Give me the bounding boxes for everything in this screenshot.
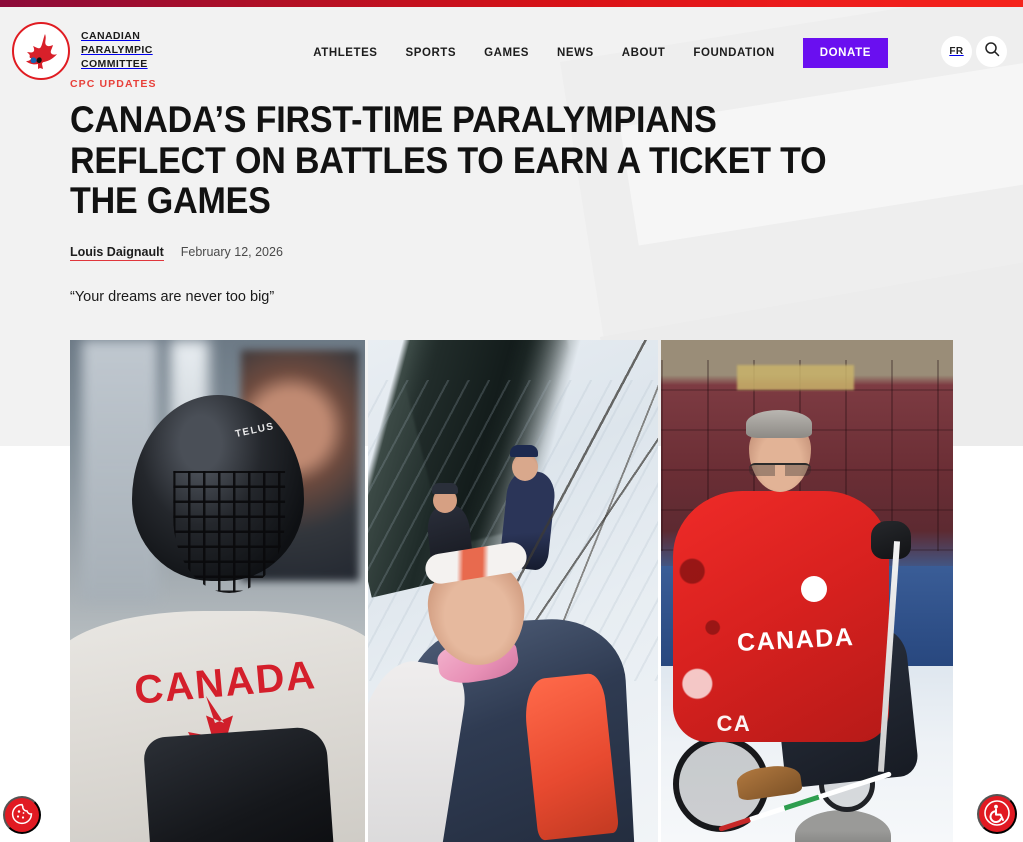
- language-label: FR: [949, 46, 963, 57]
- jacket-canada-wordmark-partial: CA: [716, 711, 751, 737]
- jacket-cpc-crest: [801, 576, 827, 602]
- language-switch-fr[interactable]: FR: [941, 36, 972, 67]
- search-button[interactable]: [976, 36, 1007, 67]
- hero-image-wheelchair-curling: CANADA CA Wheelchair curling athlete in …: [661, 340, 953, 842]
- nav-item-news[interactable]: NEWS: [543, 41, 608, 65]
- author-link[interactable]: Louis Daignault: [70, 245, 164, 261]
- nav-item-sports[interactable]: SPORTS: [392, 41, 471, 65]
- article-header: CPC UPDATES CANADA’S FIRST-TIME PARALYMP…: [70, 78, 860, 305]
- hero-image-para-nordic-skiing: Three para nordic skiers taking a selfie…: [368, 340, 658, 842]
- cpc-maple-leaf-agitos-logo-icon: [12, 22, 70, 80]
- curling-glove: [871, 521, 911, 559]
- nav-item-about[interactable]: ABOUT: [608, 41, 680, 65]
- cookie-preferences-button[interactable]: [3, 796, 41, 834]
- curler-glasses: [749, 463, 811, 476]
- brand-logo-link[interactable]: CANADIAN PARALYMPIC COMMITTEE: [12, 22, 153, 80]
- site-header: CANADIAN PARALYMPIC COMMITTEE ATHLETES S…: [0, 7, 1023, 85]
- page-title: CANADA’S FIRST-TIME PARALYMPIANS REFLECT…: [70, 100, 861, 222]
- article-lede: “Your dreams are never too big”: [70, 289, 860, 305]
- wheelchair-icon: [983, 799, 1011, 830]
- top-accent-bar: [0, 0, 1023, 7]
- page-root: CANADIAN PARALYMPIC COMMITTEE ATHLETES S…: [0, 0, 1023, 842]
- hockey-glove: [142, 725, 334, 842]
- byline: Louis Daignault February 12, 2026: [70, 245, 860, 261]
- search-icon: [984, 41, 1000, 62]
- hero-image-triptych: CANADA TELUS Para ice hockey player in w…: [70, 340, 953, 842]
- primary-navigation: ATHLETES SPORTS GAMES NEWS ABOUT FOUNDAT…: [313, 38, 888, 68]
- nav-item-games[interactable]: GAMES: [470, 41, 543, 65]
- article-category-kicker[interactable]: CPC UPDATES: [70, 78, 860, 90]
- hero-image-para-ice-hockey: CANADA TELUS Para ice hockey player in w…: [70, 340, 365, 842]
- curler-hair: [746, 410, 812, 438]
- publish-date: February 12, 2026: [181, 245, 283, 259]
- jacket-maple-pattern: [673, 531, 737, 732]
- nav-item-foundation[interactable]: FOUNDATION: [679, 41, 788, 65]
- donate-button[interactable]: DONATE: [803, 38, 888, 68]
- cookie-icon: [10, 802, 34, 829]
- orange-race-vest: [522, 673, 620, 841]
- arena-rail: [737, 365, 854, 390]
- nav-item-athletes[interactable]: ATHLETES: [313, 41, 391, 65]
- header-utility-group: FR: [941, 36, 1007, 67]
- brand-name: CANADIAN PARALYMPIC COMMITTEE: [81, 30, 153, 72]
- accessibility-options-button[interactable]: [977, 794, 1017, 834]
